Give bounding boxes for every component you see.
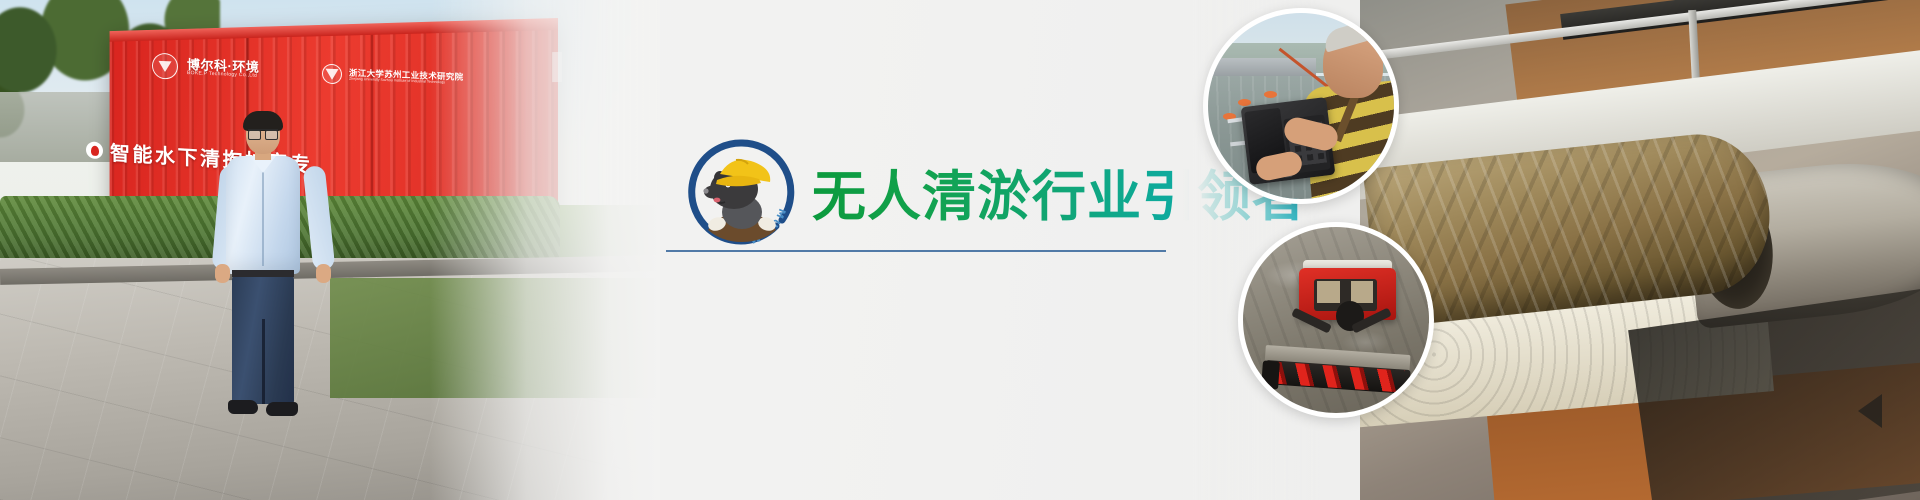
float-buoy <box>1264 91 1277 98</box>
right-arm <box>303 165 336 271</box>
sludge-discharge-photo <box>1360 0 1920 500</box>
glasses-icon <box>248 129 278 137</box>
partner-seal-icon <box>322 64 342 85</box>
right-zone-fade <box>1180 0 1210 500</box>
shirt-placket <box>262 166 264 266</box>
robot-plate <box>1351 281 1373 303</box>
brand-seal-icon <box>152 53 178 80</box>
float-buoy <box>1238 99 1251 106</box>
hero-banner: 博尔科·环境 BOKE.P Technology Co.,Ltd 浙江大学苏州工… <box>0 0 1920 500</box>
belt <box>232 270 294 277</box>
engineer-figure <box>212 114 332 434</box>
brand-name-en: BOKE.P Technology Co.,Ltd <box>187 71 259 79</box>
right-photo-group <box>1180 0 1920 500</box>
leg-split <box>262 319 265 404</box>
title-divider <box>666 250 1166 252</box>
left-hand <box>215 264 230 283</box>
container-site-photo: 博尔科·环境 BOKE.P Technology Co.,Ltd 浙江大学苏州工… <box>0 0 660 500</box>
operator-console-photo <box>1203 8 1399 204</box>
right-shoe <box>266 402 298 416</box>
hair <box>243 111 283 131</box>
right-hand <box>316 264 331 283</box>
slogan-mark-icon <box>86 141 103 159</box>
left-shoe <box>228 400 258 414</box>
dredging-robot-photo <box>1238 222 1434 418</box>
auger-end-cap <box>1261 360 1280 389</box>
center-content: MUD MOLE <box>660 0 1260 500</box>
robot-plate <box>1317 281 1339 303</box>
direction-arrow-icon <box>1858 394 1882 428</box>
left-photo-fade <box>430 0 660 500</box>
mud-mole-logo: MUD MOLE <box>684 134 800 250</box>
